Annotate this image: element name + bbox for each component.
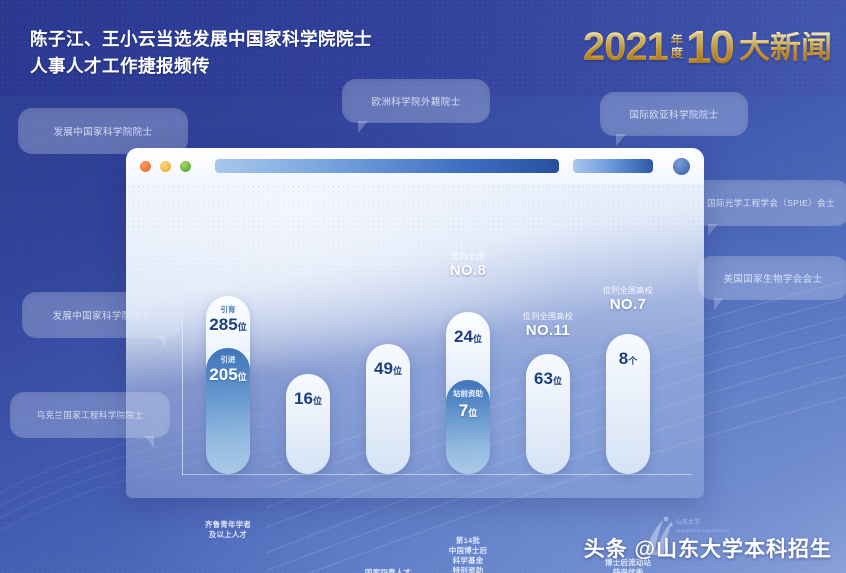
bubble-label: 发展中国家科学院院士 (53, 124, 152, 138)
bar-4-rank-prefix: 位列全国 (420, 252, 516, 262)
bar-4-x-label: 第14批 中国博士后 科学基金 特别资助 (424, 536, 512, 573)
logo-year: 2021 (583, 27, 668, 67)
bar-column-3: 49位 国家四青人才 (366, 344, 410, 474)
search-bar[interactable] (573, 159, 653, 173)
bar-3-top-unit: 位 (393, 366, 402, 376)
sdu-logo-text: 山东大学 SHANDONG UNIVERSITY (676, 519, 730, 534)
bar-5-top-number: 63 (534, 369, 553, 388)
logo-suffix: 大新闻 (739, 32, 832, 63)
bar-4-sub-value: 7位 (446, 402, 490, 419)
bar-1-x-label-line: 齐鲁青年学者 (184, 520, 272, 530)
address-bar[interactable] (215, 159, 559, 173)
bar-6-top-number: 8 (619, 349, 628, 368)
x-axis-line (182, 474, 692, 475)
bar-6-rank-callout: 位列全国高校 NO.7 (580, 286, 676, 314)
page-title-line2: 人事人才工作捷报频传 (30, 53, 490, 80)
bar-3-x-label: 国家四青人才 (344, 568, 432, 573)
bar-4-sub-number: 7 (459, 401, 468, 420)
bar-1-top-unit: 位 (238, 322, 247, 332)
annual-top10-news-logo: 2021 年 度 10 大新闻 (583, 22, 832, 72)
minimize-icon[interactable] (160, 161, 171, 172)
bar-1-top-number: 285 (209, 315, 237, 334)
bar-2-top-number: 16 (294, 389, 313, 408)
bar-4-x-label-line: 特别资助 (424, 566, 512, 573)
avatar[interactable] (673, 158, 690, 175)
bar-column-5: 位列全国高校 NO.11 63位 第69批 中国博士后 科学基金 面上资助 (526, 354, 570, 474)
logo-ten: 10 (686, 24, 733, 70)
sdu-logo-text-cn: 山东大学 (676, 519, 730, 528)
bar-4-top-unit: 位 (473, 334, 482, 344)
bar-4: 24位 站前资助 7位 (446, 312, 490, 474)
bar-3: 49位 (366, 344, 410, 474)
bar-5-top-value: 63位 (526, 370, 570, 387)
bar-6-rank-value: NO.7 (580, 296, 676, 315)
bar-column-2: 16位 国家级领军人才 (286, 374, 330, 474)
bar-4-sub-unit: 位 (468, 408, 477, 418)
bar-3-x-label-line: 国家四青人才 (344, 568, 432, 573)
bar-1-sub-unit: 位 (238, 372, 247, 382)
bar-1-top-value: 285位 (206, 316, 250, 333)
bar-1-x-label: 齐鲁青年学者 及以上人才 (184, 520, 272, 540)
bar-4-rank-callout: 位列全国 NO.8 (420, 252, 516, 280)
bar-1-x-label-line: 及以上人才 (184, 530, 272, 540)
bar-column-6: 位列全国高校 NO.7 8个 博士后流动站 获评优秀 (606, 334, 650, 474)
bar-1-sub-number: 205 (209, 365, 237, 384)
y-axis-line (182, 263, 183, 475)
bubble-label: 欧洲科学院外籍院士 (371, 94, 460, 108)
window-controls[interactable] (140, 161, 191, 172)
maximize-icon[interactable] (180, 161, 191, 172)
bar-4-top-number: 24 (454, 327, 473, 346)
bar-4-x-label-line: 第14批 (424, 536, 512, 546)
bar-1-sub-value: 205位 (206, 366, 250, 383)
bar-4-sub-caption: 站前资助 (446, 390, 490, 398)
bar-2-top-value: 16位 (286, 390, 330, 407)
bar-2: 16位 (286, 374, 330, 474)
browser-chrome-bar (126, 148, 704, 184)
logo-du: 度 (671, 47, 683, 60)
bubble-honor-3: 国际欧亚科学院院士 (600, 92, 748, 136)
poster-canvas: 陈子江、王小云当选发展中国家科学院院士 人事人才工作捷报频传 2021 年 度 … (0, 0, 846, 573)
bar-5-rank-value: NO.11 (500, 322, 596, 341)
bar-column-4: 位列全国 NO.8 24位 站前资助 7位 第14批 中国博士后 科学基金 特别… (446, 312, 490, 474)
bubble-label: 国际欧亚科学院院士 (629, 107, 718, 121)
bar-4-rank-value: NO.8 (420, 262, 516, 281)
bar-1: 引育 285位 引进 205位 (206, 296, 250, 474)
bubble-honor-2: 欧洲科学院外籍院士 (342, 79, 490, 123)
logo-niandu: 年 度 (671, 34, 683, 59)
bar-5: 63位 (526, 354, 570, 474)
bar-1-sub-caption: 引进 (206, 356, 250, 364)
bar-4-x-label-line: 中国博士后 (424, 546, 512, 556)
source-attribution: 头条 @山东大学本科招生 (584, 533, 832, 563)
page-title-line1: 陈子江、王小云当选发展中国家科学院院士 (30, 29, 372, 49)
bar-4-top-value: 24位 (446, 328, 490, 345)
talent-statistics-bar-chart: 引育 285位 引进 205位 齐鲁青年学者 及以上人才 16位 (170, 255, 730, 515)
bar-4-x-label-line: 科学基金 (424, 556, 512, 566)
bubble-label: 美国国家生物学会会士 (723, 271, 822, 285)
bar-2-top-unit: 位 (313, 396, 322, 406)
bar-6-top-unit: 个 (628, 356, 637, 366)
close-icon[interactable] (140, 161, 151, 172)
bubble-label: 国际光学工程学会（SPIE）会士 (707, 197, 835, 209)
bar-6: 8个 (606, 334, 650, 474)
bar-3-top-number: 49 (374, 359, 393, 378)
bar-6-x-label-line: 获评优秀 (584, 568, 672, 573)
bar-5-rank-callout: 位列全国高校 NO.11 (500, 312, 596, 340)
bar-3-top-value: 49位 (366, 360, 410, 377)
bubble-honor-4: 国际光学工程学会（SPIE）会士 (692, 180, 846, 226)
bar-5-top-unit: 位 (553, 376, 562, 386)
bar-column-1: 引育 285位 引进 205位 齐鲁青年学者 及以上人才 (206, 296, 250, 474)
page-title: 陈子江、王小云当选发展中国家科学院院士 人事人才工作捷报频传 (30, 26, 490, 80)
bar-6-rank-prefix: 位列全国高校 (580, 286, 676, 296)
bar-1-top-caption: 引育 (206, 306, 250, 314)
bar-6-top-value: 8个 (606, 350, 650, 367)
